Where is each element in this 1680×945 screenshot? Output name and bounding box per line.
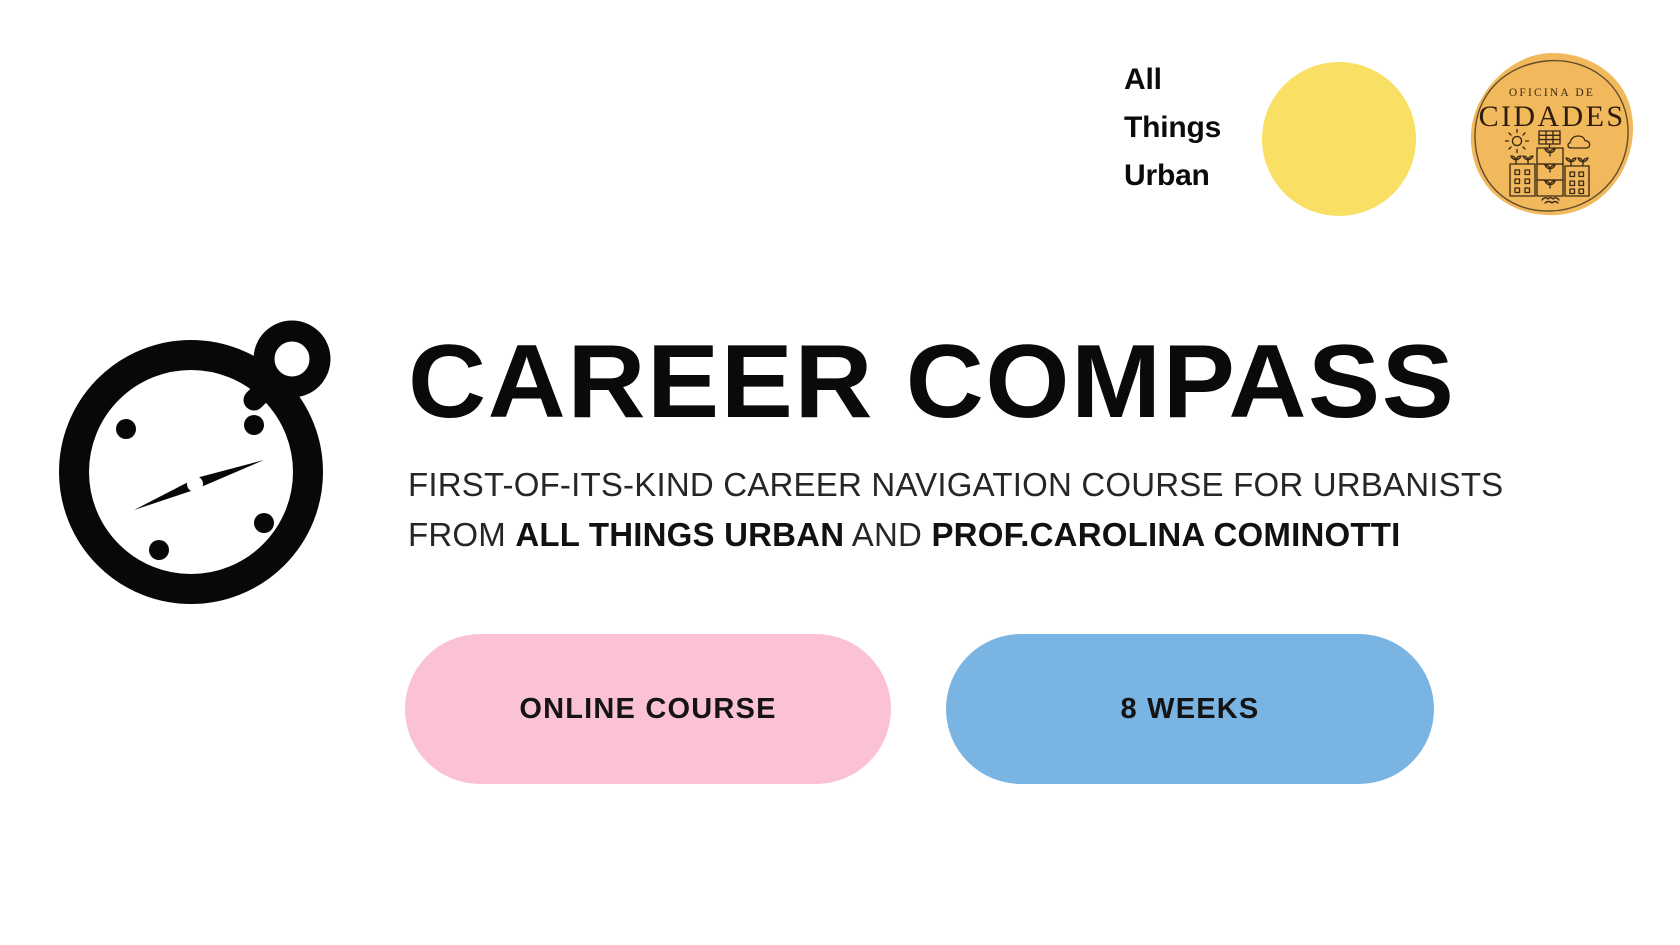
all-things-urban-wordmark: All Things Urban [1124,56,1264,200]
all-things-urban-logo[interactable]: All Things Urban [1124,56,1424,216]
tag-pill-row: ONLINE COURSE 8 WEEKS [405,634,1435,786]
yellow-circle-shape [1262,62,1416,216]
pill-duration-weeks[interactable]: 8 WEEKS [946,634,1434,784]
atu-line-3: Urban [1124,152,1264,200]
compass-loop-connector [254,382,272,400]
page-title: CAREER COMPASS [408,330,1573,434]
oficina-seal-graphic: OFICINA DE CIDADES [1466,48,1638,220]
slide-canvas: All Things Urban OFICINA DE CIDADES [0,0,1680,945]
compass-pivot [187,476,203,492]
seal-main-text: CIDADES [1479,100,1626,133]
oficina-de-cidades-logo[interactable]: OFICINA DE CIDADES [1466,48,1638,220]
subtitle-mid: AND [844,516,931,553]
subtitle-instructor-emphasis: PROF.CAROLINA COMINOTTI [931,516,1400,553]
atu-line-1: All [1124,56,1264,104]
subtitle-brand-emphasis: ALL THINGS URBAN [515,516,844,553]
atu-line-2: Things [1124,104,1264,152]
compass-dot-sw [149,540,169,560]
hero-text-block: CAREER COMPASS FIRST-OF-ITS-KIND CAREER … [408,330,1528,560]
pill-online-course[interactable]: ONLINE COURSE [405,634,891,784]
subtitle-line-2: FROM ALL THINGS URBAN AND PROF.CAROLINA … [408,510,1528,560]
compass-icon [58,312,348,612]
compass-dot-se [254,513,274,533]
compass-dot-nw [116,419,136,439]
subtitle-pre: FROM [408,516,515,553]
compass-graphic [58,312,348,612]
subtitle-line-1: FIRST-OF-ITS-KIND CAREER NAVIGATION COUR… [408,460,1528,510]
hero-subtitle: FIRST-OF-ITS-KIND CAREER NAVIGATION COUR… [408,460,1528,560]
seal-top-text: OFICINA DE [1509,87,1595,99]
compass-dot-ne [244,415,264,435]
